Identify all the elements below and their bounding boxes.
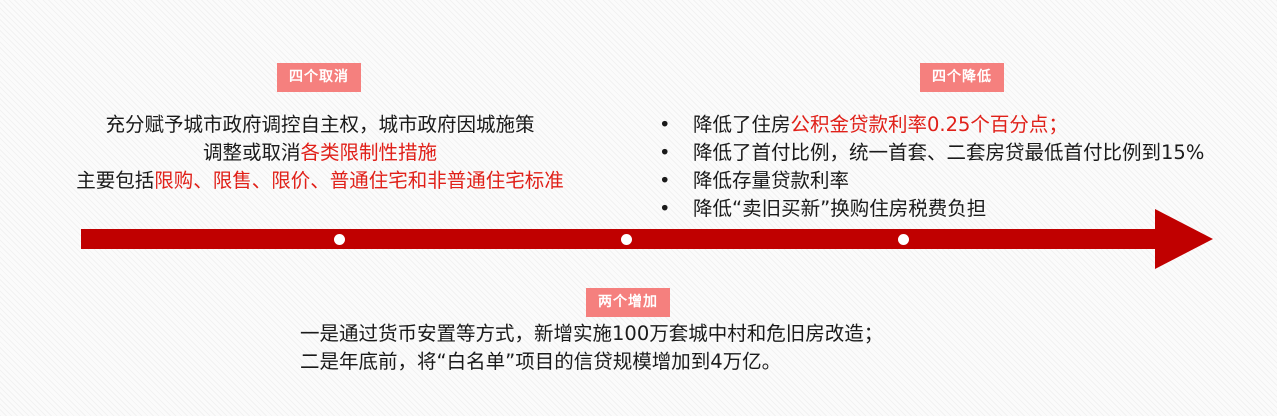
section-badge-increase: 两个增加 <box>586 288 670 317</box>
text-line: 二是年底前，将“白名单”项目的信贷规模增加到4万亿。 <box>300 348 883 376</box>
text-run: 降低存量贷款利率 <box>693 169 849 192</box>
bullet-dot-icon: • <box>659 139 671 167</box>
timeline-node-dot <box>898 234 909 245</box>
text-line: 主要包括限购、限售、限价、普通住宅和非普通住宅标准 <box>0 167 640 195</box>
text-line: 充分赋予城市政府调控自主权，城市政府因城施策 <box>0 111 640 139</box>
text-run: 充分赋予城市政府调控自主权，城市政府因城施策 <box>105 113 534 136</box>
text-run-highlight: 公积金贷款利率0.25个百分点； <box>791 113 1068 136</box>
section-text-reduce: •降低了住房公积金贷款利率0.25个百分点； •降低了首付比例，统一首套、二套房… <box>655 111 1204 223</box>
section-text-increase: 一是通过货币安置等方式，新增实施100万套城中村和危旧房改造； 二是年底前，将“… <box>300 320 883 376</box>
bullet-item: •降低了首付比例，统一首套、二套房贷最低首付比例到15% <box>655 139 1204 167</box>
text-line: 一是通过货币安置等方式，新增实施100万套城中村和危旧房改造； <box>300 320 883 348</box>
bullet-item: •降低存量贷款利率 <box>655 167 1204 195</box>
text-run: 降低了住房 <box>693 113 791 136</box>
bullet-dot-icon: • <box>659 167 671 195</box>
section-badge-cancel: 四个取消 <box>277 63 361 92</box>
bullet-item: •降低了住房公积金贷款利率0.25个百分点； <box>655 111 1204 139</box>
text-line: 调整或取消各类限制性措施 <box>0 139 640 167</box>
text-run: 主要包括 <box>76 169 154 192</box>
timeline-node-dot <box>334 234 345 245</box>
timeline-node-dot <box>621 234 632 245</box>
bullet-dot-icon: • <box>659 111 671 139</box>
arrow-right-icon <box>1155 209 1213 269</box>
text-run-highlight: 限购、限售、限价、普通住宅和非普通住宅标准 <box>154 169 564 192</box>
text-run: 一是通过货币安置等方式，新增实施100万套城中村和危旧房改造； <box>300 322 883 345</box>
text-run: 降低了首付比例，统一首套、二套房贷最低首付比例到15% <box>693 141 1204 164</box>
timeline-shaft <box>81 229 1156 249</box>
slide-canvas: 四个取消 充分赋予城市政府调控自主权，城市政府因城施策 调整或取消各类限制性措施… <box>0 0 1277 416</box>
timeline-arrow <box>81 209 1213 269</box>
section-text-cancel: 充分赋予城市政府调控自主权，城市政府因城施策 调整或取消各类限制性措施 主要包括… <box>0 111 640 195</box>
text-run-highlight: 各类限制性措施 <box>301 141 438 164</box>
text-run: 调整或取消 <box>203 141 301 164</box>
text-run: 二是年底前，将“白名单”项目的信贷规模增加到4万亿。 <box>300 350 781 373</box>
section-badge-reduce: 四个降低 <box>920 63 1004 92</box>
